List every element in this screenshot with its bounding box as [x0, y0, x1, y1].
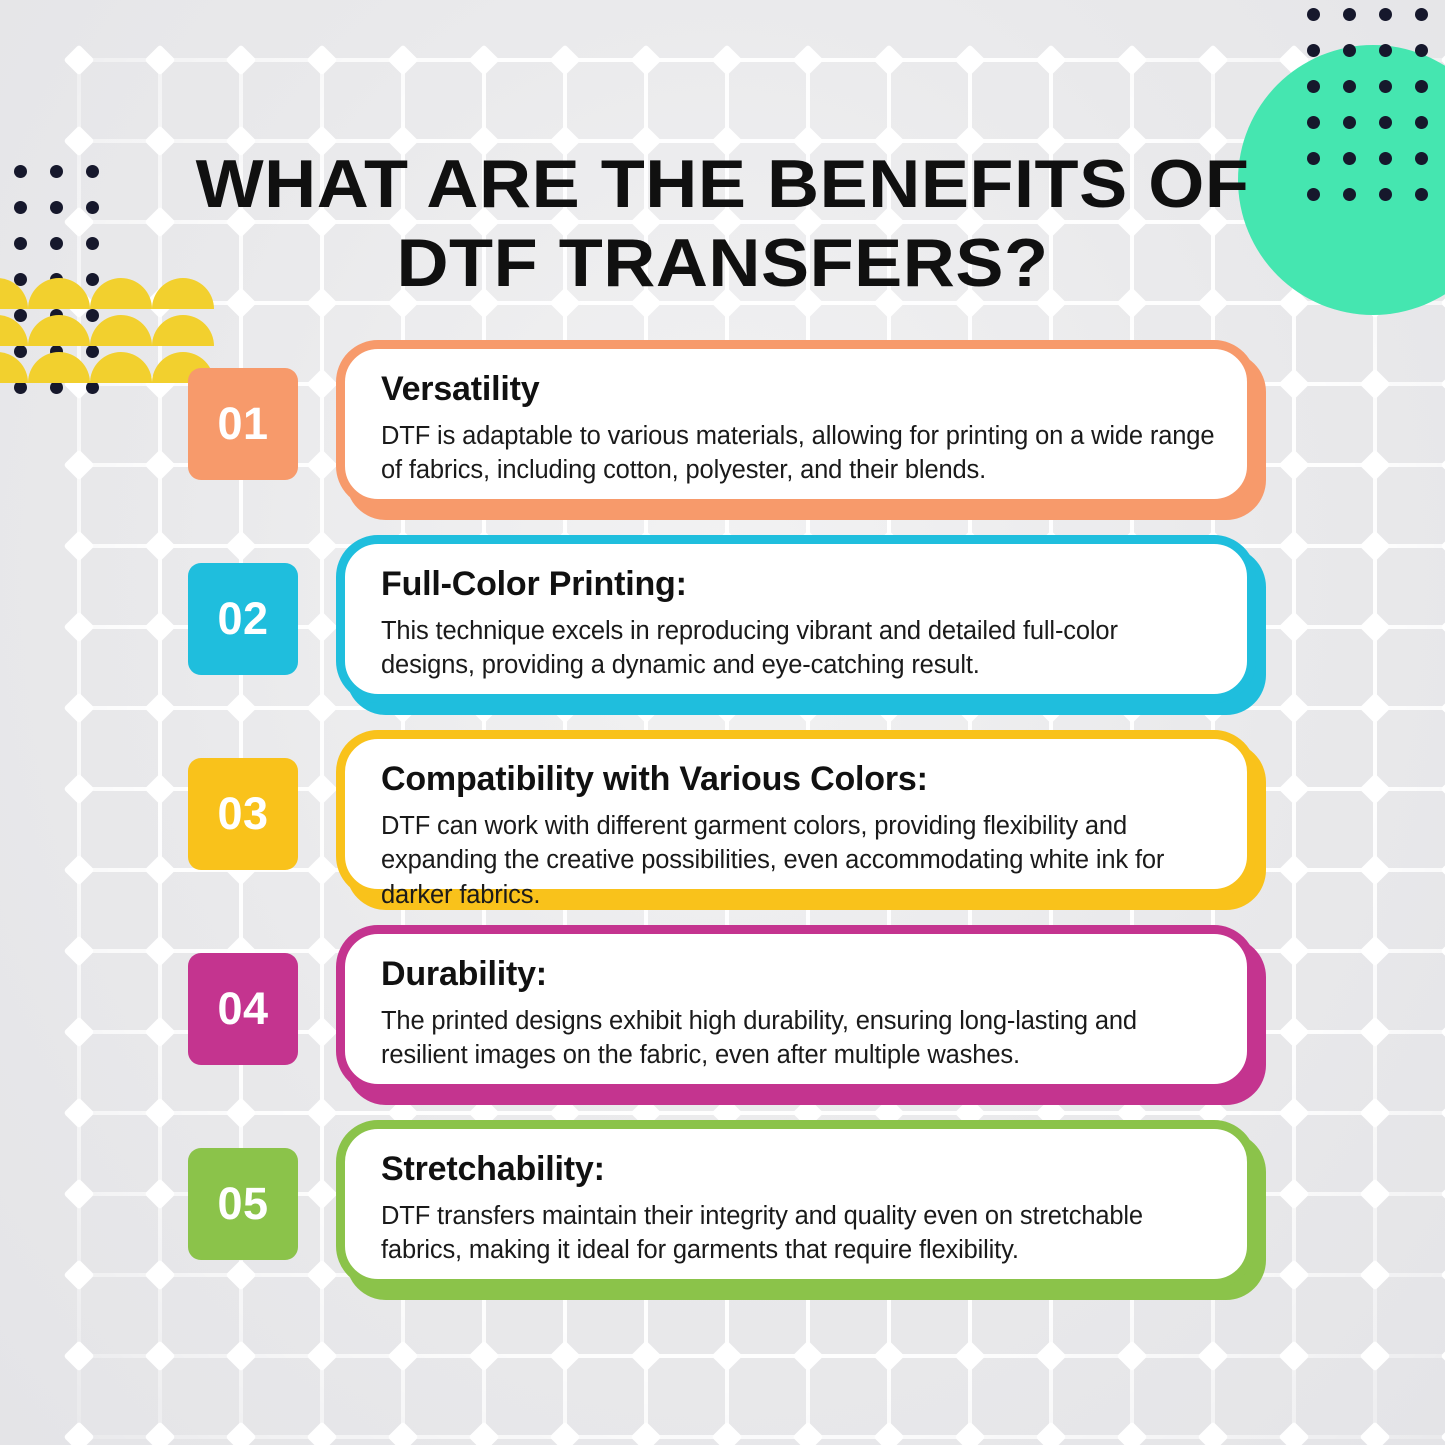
decoration-dot: [1343, 188, 1356, 201]
grid-node: [711, 1340, 742, 1371]
decoration-dot: [1343, 80, 1356, 93]
grid-node: [1278, 935, 1309, 966]
semicircle-shape: [28, 278, 90, 309]
grid-node: [144, 530, 175, 561]
grid-node: [1035, 1421, 1066, 1445]
benefit-description: DTF can work with different garment colo…: [381, 809, 1217, 913]
benefit-heading: Full-Color Printing:: [381, 564, 1217, 605]
benefit-card-wrapper: Stretchability:DTF transfers maintain th…: [336, 1120, 1256, 1290]
grid-node: [873, 1421, 904, 1445]
grid-node: [306, 44, 337, 75]
grid-node: [1278, 1016, 1309, 1047]
grid-node: [63, 1178, 94, 1209]
decoration-dot: [1307, 80, 1320, 93]
grid-node: [63, 125, 94, 156]
decoration-dot: [1379, 116, 1392, 129]
grid-node: [549, 1340, 580, 1371]
infographic-poster: WHAT ARE THE BENEFITS OF DTF TRANSFERS? …: [0, 0, 1445, 1445]
grid-node: [63, 773, 94, 804]
benefit-heading: Versatility: [381, 369, 1217, 410]
decoration-dot: [50, 165, 63, 178]
grid-node: [1278, 1340, 1309, 1371]
grid-node: [549, 44, 580, 75]
decoration-dot: [86, 201, 99, 214]
grid-node: [1359, 530, 1390, 561]
grid-node: [549, 1421, 580, 1445]
page-title: WHAT ARE THE BENEFITS OF DTF TRANSFERS?: [147, 145, 1297, 303]
grid-node: [873, 44, 904, 75]
semicircle-shape: [0, 315, 28, 346]
grid-node: [1440, 1421, 1445, 1445]
grid-node: [1278, 773, 1309, 804]
grid-node: [1035, 44, 1066, 75]
grid-node: [144, 1178, 175, 1209]
benefit-heading: Compatibility with Various Colors:: [381, 759, 1217, 800]
semicircle-pattern-left: [0, 278, 156, 388]
grid-node: [1035, 1340, 1066, 1371]
grid-node: [1440, 1016, 1445, 1047]
grid-node: [387, 1421, 418, 1445]
grid-node: [1440, 1178, 1445, 1209]
decoration-dot: [1307, 44, 1320, 57]
grid-node: [711, 44, 742, 75]
grid-node: [387, 1340, 418, 1371]
grid-node: [1278, 368, 1309, 399]
benefit-card: Stretchability:DTF transfers maintain th…: [336, 1120, 1256, 1288]
grid-node: [1359, 611, 1390, 642]
decoration-dot: [1343, 8, 1356, 21]
grid-node: [1278, 449, 1309, 480]
grid-node: [954, 1340, 985, 1371]
grid-node: [1197, 1421, 1228, 1445]
grid-node: [1440, 854, 1445, 885]
grid-node: [1278, 611, 1309, 642]
grid-node: [792, 1340, 823, 1371]
benefit-description: DTF transfers maintain their integrity a…: [381, 1199, 1217, 1268]
grid-node: [630, 44, 661, 75]
grid-node: [63, 530, 94, 561]
grid-node: [1440, 449, 1445, 480]
grid-node: [1359, 854, 1390, 885]
grid-node: [225, 44, 256, 75]
grid-node: [63, 1016, 94, 1047]
grid-node: [1440, 692, 1445, 723]
grid-node: [1116, 44, 1147, 75]
grid-node: [1359, 935, 1390, 966]
grid-node: [1359, 368, 1390, 399]
grid-node: [1359, 692, 1390, 723]
dot-grid-top-right: [1307, 8, 1437, 188]
grid-node: [63, 44, 94, 75]
decoration-dot: [1415, 152, 1428, 165]
grid-node: [144, 1421, 175, 1445]
semicircle-shape: [90, 315, 152, 346]
decoration-dot: [86, 237, 99, 250]
benefit-card-wrapper: Durability:The printed designs exhibit h…: [336, 925, 1256, 1095]
decoration-dot: [1343, 44, 1356, 57]
grid-node: [1278, 1178, 1309, 1209]
grid-node: [225, 1421, 256, 1445]
grid-node: [1359, 1178, 1390, 1209]
grid-node: [1278, 1421, 1309, 1445]
grid-node: [144, 1097, 175, 1128]
grid-node: [1278, 1097, 1309, 1128]
decoration-dot: [1415, 44, 1428, 57]
decoration-dot: [1307, 116, 1320, 129]
grid-node: [1359, 773, 1390, 804]
grid-node: [144, 44, 175, 75]
grid-node: [1440, 773, 1445, 804]
semicircle-shape: [0, 278, 28, 309]
decoration-dot: [86, 165, 99, 178]
benefit-number-badge: 05: [188, 1148, 298, 1260]
semicircle-shape: [28, 352, 90, 383]
grid-node: [144, 1016, 175, 1047]
benefits-list: 01VersatilityDTF is adaptable to various…: [188, 340, 1283, 1315]
benefit-heading: Durability:: [381, 954, 1217, 995]
benefit-number-badge: 02: [188, 563, 298, 675]
benefit-card-wrapper: VersatilityDTF is adaptable to various m…: [336, 340, 1256, 510]
grid-node: [1440, 1340, 1445, 1371]
grid-node: [63, 854, 94, 885]
decoration-dot: [14, 201, 27, 214]
grid-node: [144, 449, 175, 480]
benefit-number-badge: 01: [188, 368, 298, 480]
benefit-row: 05Stretchability:DTF transfers maintain …: [188, 1120, 1283, 1315]
grid-node: [1197, 1340, 1228, 1371]
grid-node: [468, 44, 499, 75]
grid-node: [1359, 1421, 1390, 1445]
semicircle-shape: [28, 315, 90, 346]
grid-node: [1440, 1259, 1445, 1290]
grid-node: [63, 692, 94, 723]
grid-node: [711, 1421, 742, 1445]
benefit-row: 01VersatilityDTF is adaptable to various…: [188, 340, 1283, 535]
grid-node: [1116, 1421, 1147, 1445]
decoration-dot: [1343, 152, 1356, 165]
grid-node: [63, 449, 94, 480]
grid-node: [954, 44, 985, 75]
grid-node: [144, 1259, 175, 1290]
grid-node: [1116, 1340, 1147, 1371]
grid-node: [1359, 1259, 1390, 1290]
grid-node: [1440, 935, 1445, 966]
decoration-dot: [14, 237, 27, 250]
decoration-dot: [1379, 188, 1392, 201]
benefit-card-wrapper: Compatibility with Various Colors:DTF ca…: [336, 730, 1256, 900]
decoration-dot: [50, 237, 63, 250]
grid-node: [144, 692, 175, 723]
grid-node: [630, 1421, 661, 1445]
decoration-dot: [1379, 152, 1392, 165]
grid-node: [1359, 449, 1390, 480]
grid-node: [306, 1421, 337, 1445]
decoration-dot: [1415, 8, 1428, 21]
grid-node: [144, 611, 175, 642]
benefit-card: Compatibility with Various Colors:DTF ca…: [336, 730, 1256, 898]
benefit-row: 03Compatibility with Various Colors:DTF …: [188, 730, 1283, 925]
decoration-dot: [1379, 44, 1392, 57]
grid-node: [144, 773, 175, 804]
grid-node: [1440, 611, 1445, 642]
grid-node: [1278, 530, 1309, 561]
benefit-card: Durability:The printed designs exhibit h…: [336, 925, 1256, 1093]
decoration-dot: [1307, 8, 1320, 21]
decoration-dot: [14, 165, 27, 178]
decoration-dot: [1379, 8, 1392, 21]
grid-node: [225, 1340, 256, 1371]
grid-node: [630, 1340, 661, 1371]
decoration-dot: [1415, 80, 1428, 93]
grid-node: [387, 44, 418, 75]
grid-node: [1278, 854, 1309, 885]
semicircle-shape: [90, 352, 152, 383]
benefit-number-badge: 04: [188, 953, 298, 1065]
decoration-dot: [1415, 116, 1428, 129]
benefit-description: This technique excels in reproducing vib…: [381, 614, 1217, 683]
grid-node: [873, 1340, 904, 1371]
grid-node: [1278, 1259, 1309, 1290]
grid-node: [63, 935, 94, 966]
grid-node: [144, 935, 175, 966]
grid-node: [1197, 44, 1228, 75]
decoration-dot: [1307, 188, 1320, 201]
benefit-description: DTF is adaptable to various materials, a…: [381, 419, 1217, 488]
decoration-dot: [1415, 188, 1428, 201]
grid-node: [792, 1421, 823, 1445]
grid-node: [1440, 530, 1445, 561]
benefit-card: VersatilityDTF is adaptable to various m…: [336, 340, 1256, 508]
grid-node: [792, 44, 823, 75]
grid-node: [63, 1421, 94, 1445]
grid-node: [63, 1259, 94, 1290]
grid-node: [1359, 1016, 1390, 1047]
grid-node: [63, 611, 94, 642]
grid-node: [144, 1340, 175, 1371]
benefit-heading: Stretchability:: [381, 1149, 1217, 1190]
benefit-row: 04Durability:The printed designs exhibit…: [188, 925, 1283, 1120]
grid-node: [1440, 1097, 1445, 1128]
benefit-card: Full-Color Printing:This technique excel…: [336, 535, 1256, 703]
grid-node: [63, 1340, 94, 1371]
decoration-dot: [50, 201, 63, 214]
grid-node: [1359, 1340, 1390, 1371]
grid-node: [63, 1097, 94, 1128]
benefit-description: The printed designs exhibit high durabil…: [381, 1004, 1217, 1073]
semicircle-shape: [0, 352, 28, 383]
grid-node: [468, 1340, 499, 1371]
semicircle-shape: [90, 278, 152, 309]
grid-node: [468, 1421, 499, 1445]
decoration-dot: [1343, 116, 1356, 129]
grid-node: [954, 1421, 985, 1445]
grid-node: [1440, 368, 1445, 399]
grid-node: [1278, 692, 1309, 723]
benefit-row: 02Full-Color Printing:This technique exc…: [188, 535, 1283, 730]
grid-node: [144, 854, 175, 885]
benefit-number-badge: 03: [188, 758, 298, 870]
benefit-card-wrapper: Full-Color Printing:This technique excel…: [336, 535, 1256, 705]
grid-node: [306, 1340, 337, 1371]
decoration-dot: [1379, 80, 1392, 93]
grid-node: [1359, 1097, 1390, 1128]
decoration-dot: [1307, 152, 1320, 165]
